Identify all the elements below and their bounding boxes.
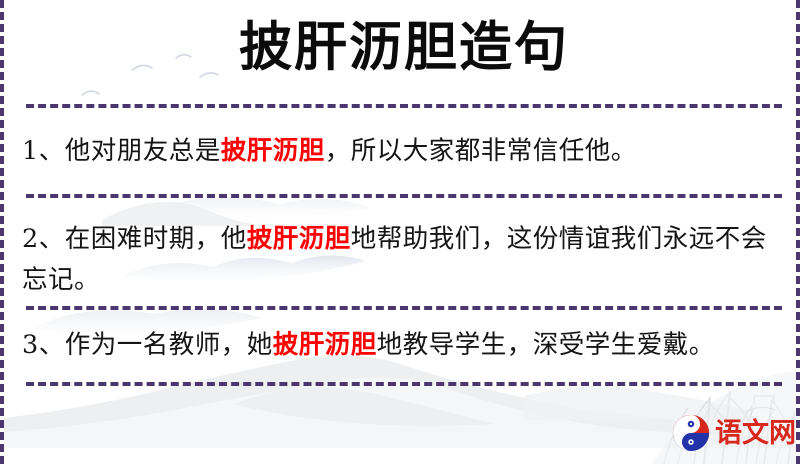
poster-content: 披肝沥胆造句 1、他对朋友总是披肝沥胆，所以大家都非常信任他。 2、在困难时期，… xyxy=(4,0,800,464)
divider-line-4 xyxy=(26,382,782,386)
yuwen-circle-logo-icon xyxy=(672,414,710,452)
page-title: 披肝沥胆造句 xyxy=(4,18,800,76)
sentence-text-before-1: 他对朋友总是 xyxy=(65,136,221,166)
site-watermark-logo: 语文网 xyxy=(672,414,796,452)
sentence-number-3: 3、 xyxy=(22,330,65,360)
divider-line-2 xyxy=(26,194,782,198)
idiom-highlight-1: 披肝沥胆 xyxy=(221,136,325,166)
idiom-highlight-2: 披肝沥胆 xyxy=(247,224,351,254)
site-name-label: 语文网 xyxy=(715,420,796,447)
sentence-text-before-3: 作为一名教师，她 xyxy=(65,330,273,360)
example-sentence-3: 3、作为一名教师，她披肝沥胆地教导学生，深受学生爱戴。 xyxy=(22,325,786,366)
example-sentence-2: 2、在困难时期，他披肝沥胆地帮助我们，这份情谊我们永远不会忘记。 xyxy=(22,219,786,301)
sentence-number-2: 2、 xyxy=(22,224,65,254)
sentence-text-before-2: 在困难时期，他 xyxy=(65,224,247,254)
sentence-number-1: 1、 xyxy=(22,136,65,166)
divider-line-1 xyxy=(26,104,782,108)
poster-canvas: 披肝沥胆造句 1、他对朋友总是披肝沥胆，所以大家都非常信任他。 2、在困难时期，… xyxy=(0,0,800,464)
idiom-highlight-3: 披肝沥胆 xyxy=(273,330,377,360)
sentence-text-after-1: ，所以大家都非常信任他。 xyxy=(325,136,637,166)
sentence-text-after-3: 地教导学生，深受学生爱戴。 xyxy=(377,330,715,360)
divider-line-3 xyxy=(26,306,782,310)
example-sentence-1: 1、他对朋友总是披肝沥胆，所以大家都非常信任他。 xyxy=(22,131,786,172)
